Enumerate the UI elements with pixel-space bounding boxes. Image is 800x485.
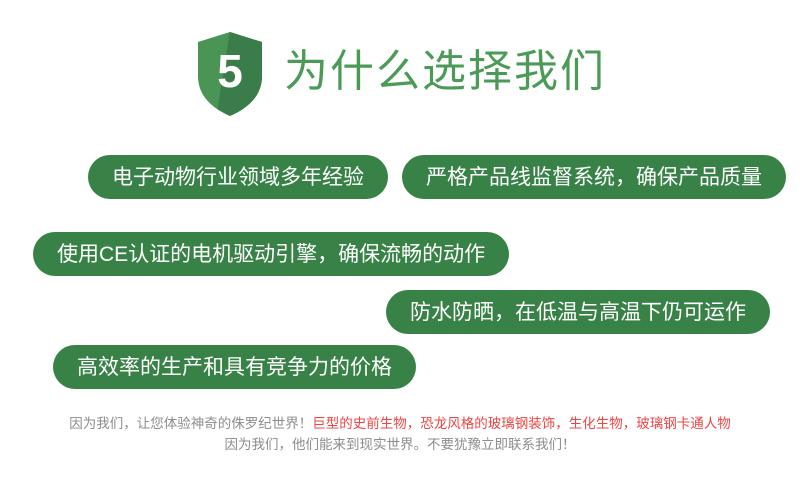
shield-badge: 5 xyxy=(194,30,266,118)
feature-pill[interactable]: 电子动物行业领域多年经验 xyxy=(88,155,388,199)
feature-pill[interactable]: 防水防晒，在低温与高温下仍可运作 xyxy=(386,290,770,334)
badge-number: 5 xyxy=(194,30,266,118)
feature-pill[interactable]: 使用CE认证的电机驱动引擎，确保流畅的动作 xyxy=(33,232,509,276)
page-title: 为什么选择我们 xyxy=(284,50,606,94)
feature-pill[interactable]: 高效率的生产和具有竞争力的价格 xyxy=(53,345,416,389)
promo-banner: 5 为什么选择我们 电子动物行业领域多年经验 严格产品线监督系统，确保产品质量 … xyxy=(0,0,800,485)
footer-line-1: 因为我们，让您体验神奇的侏罗纪世界！巨型的史前生物，恐龙风格的玻璃钢装饰，生化生… xyxy=(0,413,800,434)
header: 5 为什么选择我们 xyxy=(0,26,800,122)
footer-line-2: 因为我们，他们能来到现实世界。不要犹豫立即联系我们！ xyxy=(0,434,800,455)
feature-pill[interactable]: 严格产品线监督系统，确保产品质量 xyxy=(402,155,786,199)
footer-line-1-highlight: 巨型的史前生物，恐龙风格的玻璃钢装饰，生化生物，玻璃钢卡通人物 xyxy=(312,416,731,431)
footer-line-1-prefix: 因为我们，让您体验神奇的侏罗纪世界！ xyxy=(69,416,312,431)
footer: 因为我们，让您体验神奇的侏罗纪世界！巨型的史前生物，恐龙风格的玻璃钢装饰，生化生… xyxy=(0,413,800,455)
